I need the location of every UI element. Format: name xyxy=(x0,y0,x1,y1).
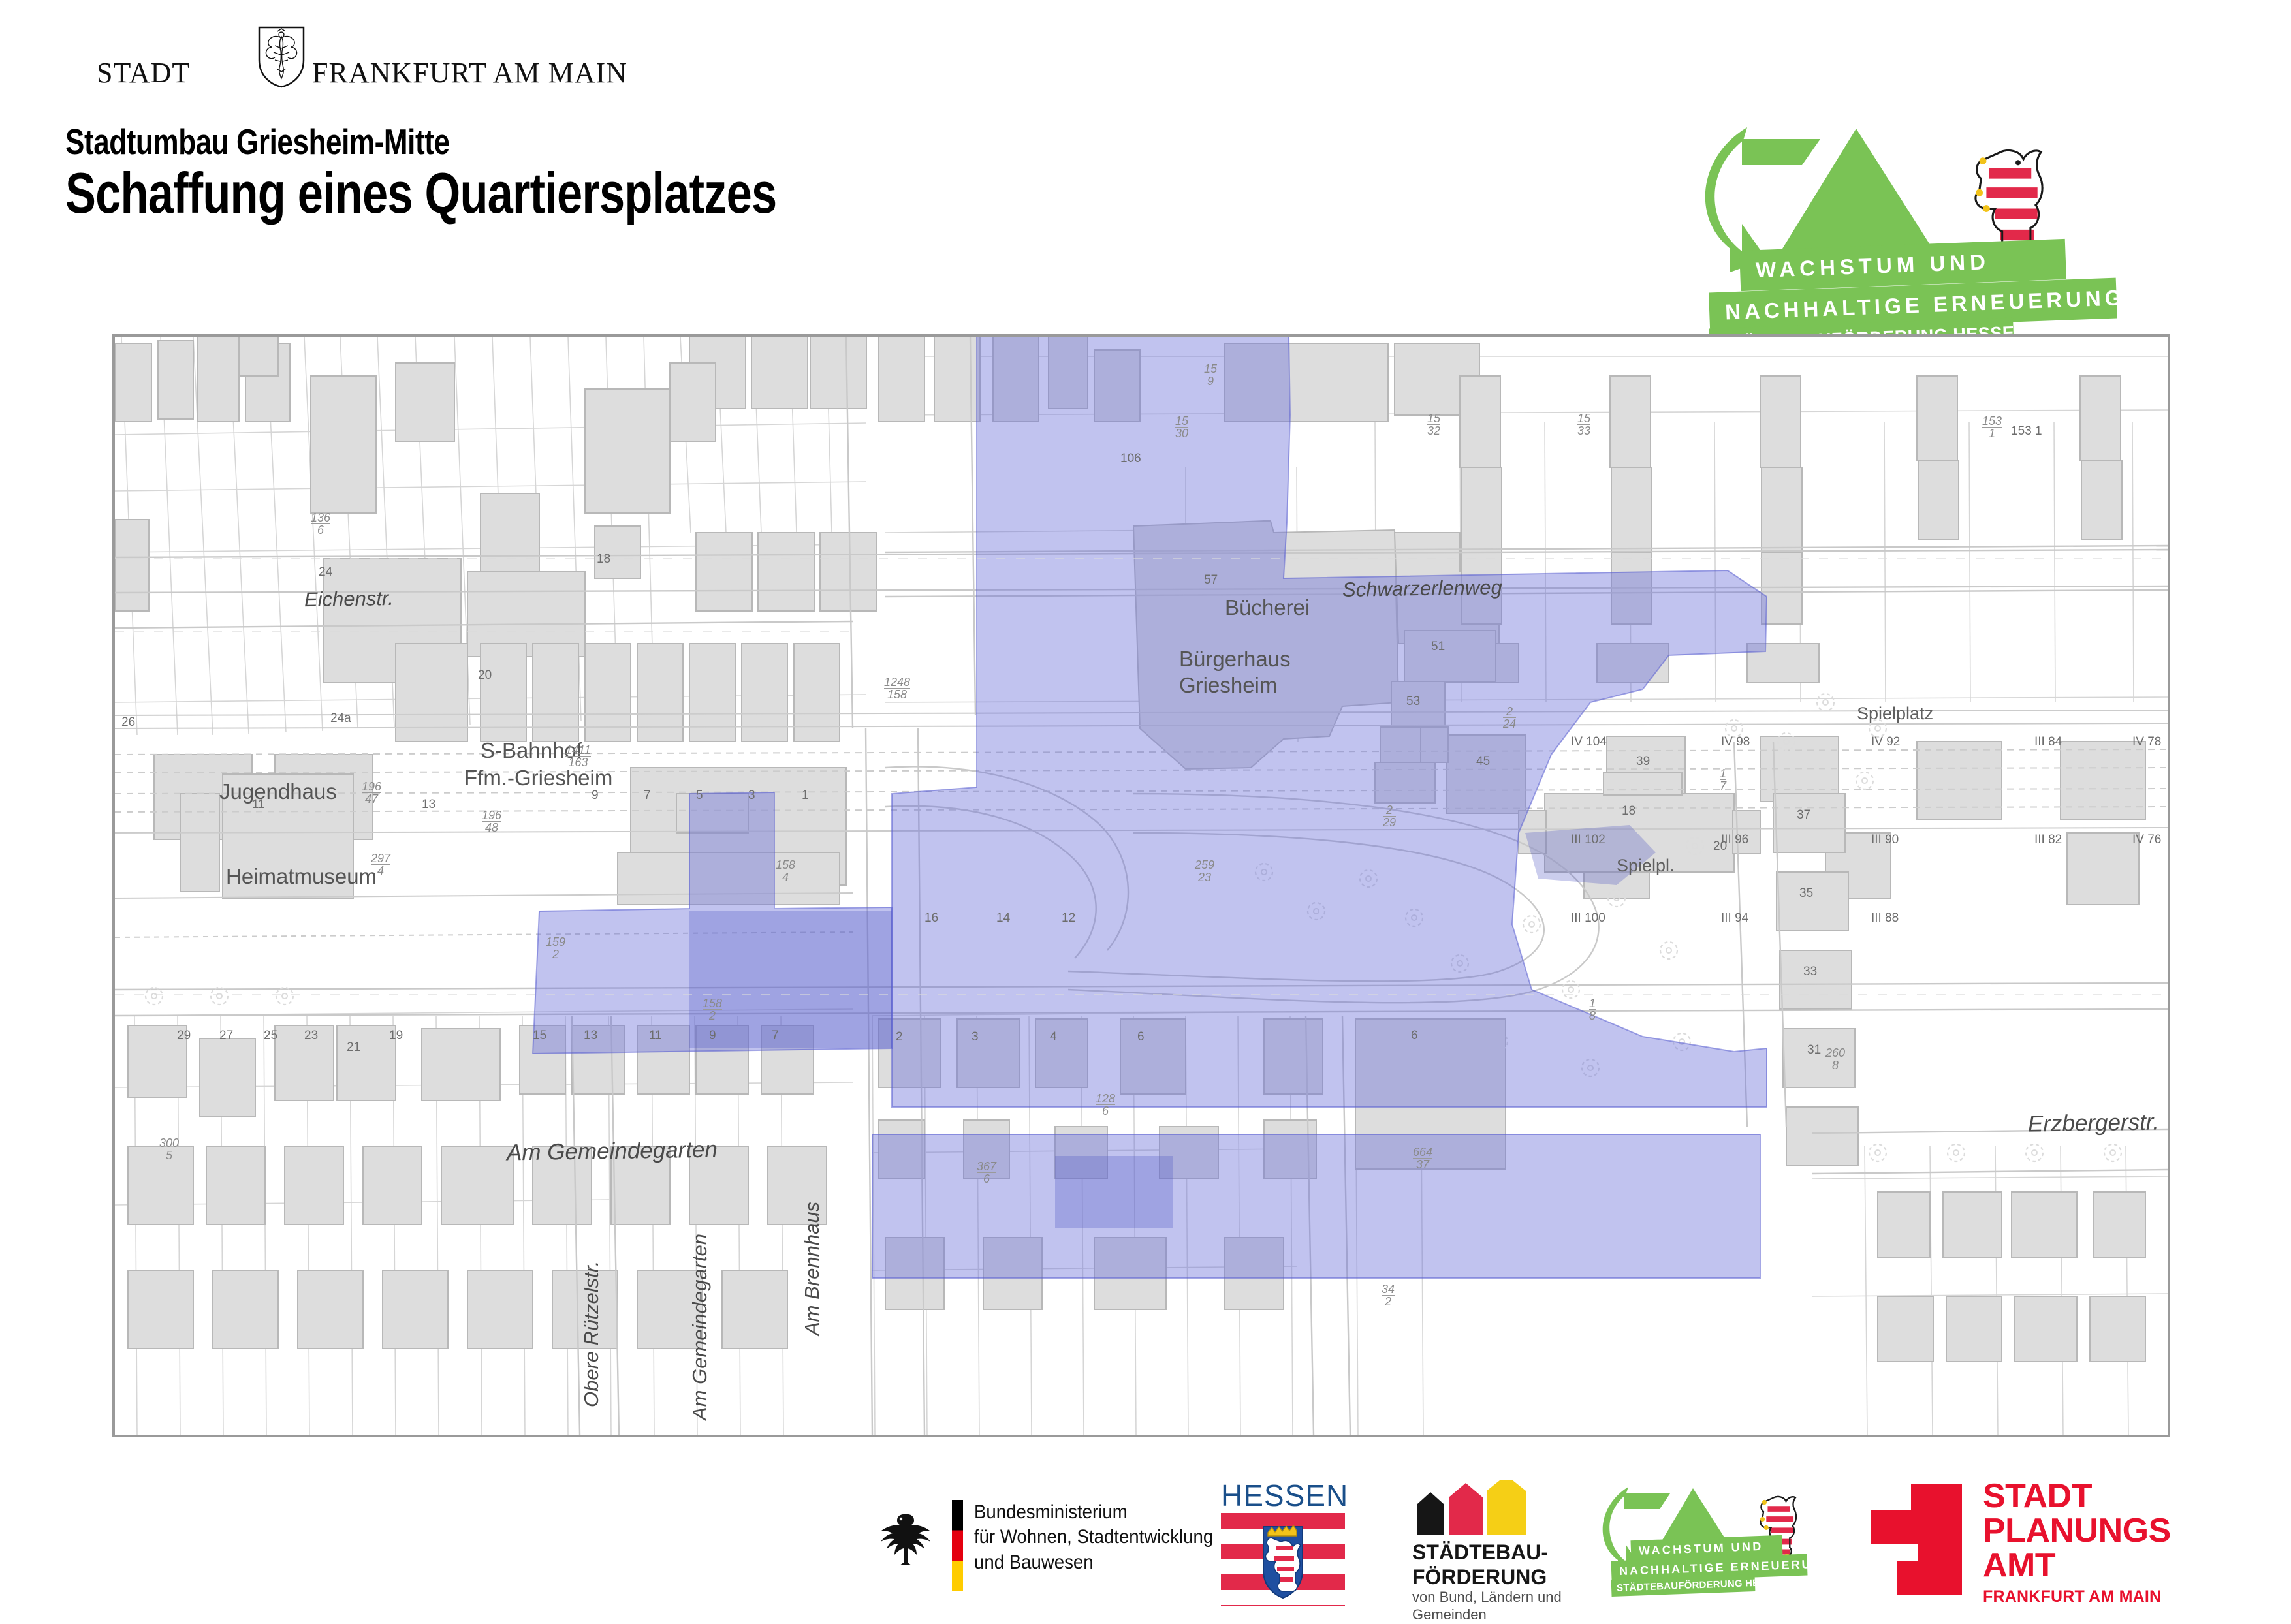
house-number: 3 xyxy=(748,789,755,803)
spa-line3: AMT xyxy=(1983,1548,2171,1583)
hessen-wordmark: HESSEN xyxy=(1221,1478,1348,1513)
building-label: 35 xyxy=(1799,886,1813,901)
parcel-code: 3676 xyxy=(977,1161,996,1185)
building-label: 31 xyxy=(1807,1043,1821,1057)
house-number: IV 92 xyxy=(1871,735,1900,749)
frankfurt-eagle-crest-icon xyxy=(258,26,305,88)
three-houses-icon xyxy=(1414,1480,1531,1535)
house-number: 27 xyxy=(219,1029,233,1043)
staedtebau-sub2: Gemeinden xyxy=(1412,1606,1562,1624)
street-label-erzbergerstr: Erzbergerstr. xyxy=(2028,1109,2160,1137)
german-flag-bar xyxy=(952,1500,963,1591)
house-number: 11 xyxy=(252,798,265,812)
parcel-code: 224 xyxy=(1503,706,1516,730)
house-number: 3 xyxy=(972,1030,979,1044)
bmwsb-text: Bundesministerium für Wohnen, Stadtentwi… xyxy=(974,1500,1213,1575)
bmwsb-logo: Bundesministerium für Wohnen, Stadtentwi… xyxy=(875,1482,1201,1606)
street-label-obere-ruetzelstr: Obere Rützelstr. xyxy=(580,1260,603,1407)
poi-label-griesheim: Griesheim xyxy=(1179,673,1277,698)
house-number: 6 xyxy=(1411,1029,1418,1043)
logo-word-stadt: Stadt xyxy=(97,56,190,89)
staedtebau-line1: STÄDTEBAU- xyxy=(1412,1540,1548,1565)
parcel-code: 19648 xyxy=(482,809,501,834)
parcel-code: 1530 xyxy=(1175,415,1188,439)
stadtplanungsamt-wordmark: STADT PLANUNGS AMT xyxy=(1983,1479,2171,1583)
parcel-code: 19647 xyxy=(362,781,381,805)
house-number: 21 xyxy=(347,1040,360,1055)
parcel-code: 66437 xyxy=(1413,1146,1432,1170)
bundesadler-icon xyxy=(875,1509,932,1572)
house-number: 7 xyxy=(772,1029,779,1043)
house-number: 26 xyxy=(121,715,135,730)
parcel-code: 1286 xyxy=(1096,1093,1115,1117)
parcel-code: 2608 xyxy=(1825,1047,1845,1071)
house-number: 20 xyxy=(478,668,492,683)
parcel-code: 1584 xyxy=(776,859,795,883)
bmwsb-line2: für Wohnen, Stadtentwicklung xyxy=(974,1525,1213,1550)
page-header: Stadt Frankfurt am Main Stadtumbau Gries… xyxy=(0,0,2291,307)
house-number: 11 xyxy=(649,1029,662,1043)
building-label: 51 xyxy=(1431,640,1445,654)
house-number: 23 xyxy=(304,1029,318,1043)
house-number: 13 xyxy=(422,798,435,812)
house-number: IV 78 xyxy=(2132,735,2161,749)
page-kicker: Stadtumbau Griesheim-Mitte xyxy=(65,121,450,163)
house-number: 9 xyxy=(592,789,599,803)
house-number: III 88 xyxy=(1871,911,1899,926)
spa-line1: STADT xyxy=(1983,1479,2171,1514)
page-title: Schaffung eines Quartiersplatzes xyxy=(65,160,776,226)
house-number: 25 xyxy=(264,1029,277,1043)
parcel-code: 1366 xyxy=(311,512,330,536)
house-number: 1 xyxy=(802,789,809,803)
building-label: 39 xyxy=(1636,755,1650,769)
house-number: III 94 xyxy=(1721,911,1748,926)
poi-label-spielpl: Spielpl. xyxy=(1617,856,1675,876)
house-number: 19 xyxy=(389,1029,403,1043)
building-label: 18 xyxy=(1622,804,1635,819)
parcel-code: 1531 xyxy=(1982,415,2002,439)
building-label: 45 xyxy=(1476,755,1490,769)
parcel-code: 2974 xyxy=(371,852,390,877)
house-number: III 90 xyxy=(1871,833,1899,847)
house-number: 4 xyxy=(1050,1030,1057,1044)
bmwsb-line3: und Bauwesen xyxy=(974,1550,1213,1575)
building-label: 57 xyxy=(1204,573,1218,587)
house-number: 24a xyxy=(330,711,351,726)
house-number: 29 xyxy=(177,1029,191,1043)
stadtplanungsamt-logo: STADT PLANUNGS AMT FRANKFURT AM MAIN xyxy=(1871,1479,2164,1610)
staedtebau-title: STÄDTEBAU- FÖRDERUNG xyxy=(1412,1540,1548,1590)
building-label: 20 xyxy=(1713,839,1727,854)
staedtebaufoerderung-logo: STÄDTEBAU- FÖRDERUNG von Bund, Ländern u… xyxy=(1407,1480,1622,1611)
poi-label-heimatmuseum: Heimatmuseum xyxy=(226,864,377,889)
building-label: 37 xyxy=(1797,808,1810,822)
building-label: 53 xyxy=(1406,695,1420,709)
spa-subtitle: FRANKFURT AM MAIN xyxy=(1983,1587,2161,1606)
house-number: IV 98 xyxy=(1721,735,1750,749)
parcel-code: 1592 xyxy=(546,936,565,960)
house-number: 2 xyxy=(896,1030,903,1044)
house-number: III 100 xyxy=(1571,911,1605,926)
stadt-frankfurt-logo: Stadt Frankfurt am Main xyxy=(97,26,514,98)
wachstum-hessen-logo-small: WACHSTUM UND NACHHALTIGE ERNEUERUNG STÄD… xyxy=(1600,1480,1848,1611)
house-number: 12 xyxy=(1062,911,1075,926)
parcel-code: 3005 xyxy=(159,1137,179,1161)
house-number: 13 xyxy=(584,1029,597,1043)
stadtplanungsamt-mark-icon xyxy=(1871,1484,1962,1595)
poi-label-jugendhaus: Jugendhaus xyxy=(219,779,337,804)
house-number: 9 xyxy=(709,1029,716,1043)
building-label: 33 xyxy=(1803,965,1817,979)
house-number: 18 xyxy=(597,552,610,567)
staedtebau-line2: FÖRDERUNG xyxy=(1412,1565,1548,1590)
parcel-code: 18 xyxy=(1589,997,1596,1022)
building-label: 153 1 xyxy=(2011,424,2042,439)
house-number: 24 xyxy=(319,565,332,580)
house-number: III 102 xyxy=(1571,833,1605,847)
parcel-code: 1532 xyxy=(1427,413,1440,437)
poi-label-spielplatz: Spielplatz xyxy=(1857,704,1933,724)
parcel-code: 17 xyxy=(1720,768,1726,792)
logo-word-frankfurt: Frankfurt am Main xyxy=(312,56,627,89)
house-number: 15 xyxy=(533,1029,546,1043)
house-number: 7 xyxy=(644,789,651,803)
bmwsb-line1: Bundesministerium xyxy=(974,1500,1213,1525)
building-label: 106 xyxy=(1120,452,1141,466)
house-number: 6 xyxy=(1137,1030,1145,1044)
parcel-code: 1533 xyxy=(1577,413,1590,437)
house-number: 16 xyxy=(924,911,938,926)
house-number: III 82 xyxy=(2034,833,2062,847)
street-label-am-gemeindegarten-vertical: Am Gemeindegarten xyxy=(688,1234,712,1420)
spa-line2: PLANUNGS xyxy=(1983,1514,2171,1548)
parcel-code: 25923 xyxy=(1195,859,1214,883)
hessen-logo: HESSEN xyxy=(1221,1478,1351,1608)
street-label-schwarzerlenweg: Schwarzerlenweg xyxy=(1342,576,1502,602)
house-number: IV 76 xyxy=(2132,833,2161,847)
poi-label-buecherei: Bücherei xyxy=(1225,595,1310,620)
street-label-am-gemeindegarten: Am Gemeindegarten xyxy=(507,1136,718,1166)
hessen-lion-shield-icon xyxy=(1261,1525,1304,1600)
parcel-code: 229 xyxy=(1383,804,1396,828)
street-label-am-brennhaus: Am Brennhaus xyxy=(800,1202,824,1335)
parcel-code: 342 xyxy=(1382,1283,1395,1307)
parcel-code: 1582 xyxy=(703,997,722,1022)
cadastral-map[interactable]: Eichenstr. Schwarzerlenweg Am Gemeindega… xyxy=(112,334,2170,1437)
house-number: 5 xyxy=(696,789,703,803)
staedtebau-sub1: von Bund, Ländern und xyxy=(1412,1589,1562,1606)
page-footer: Bundesministerium für Wohnen, Stadtentwi… xyxy=(0,1469,2291,1619)
parcel-code: 1411163 xyxy=(565,744,591,768)
poi-label-ffm-griesheim: Ffm.-Griesheim xyxy=(464,766,612,790)
house-number: III 84 xyxy=(2034,735,2062,749)
poi-label-buergerhaus: Bürgerhaus xyxy=(1179,647,1291,672)
house-number: IV 104 xyxy=(1571,735,1607,749)
parcel-code: 1248158 xyxy=(884,676,910,700)
house-number: 14 xyxy=(996,911,1010,926)
parcel-code: 159 xyxy=(1204,363,1217,387)
street-label-eichenstr: Eichenstr. xyxy=(304,587,394,612)
